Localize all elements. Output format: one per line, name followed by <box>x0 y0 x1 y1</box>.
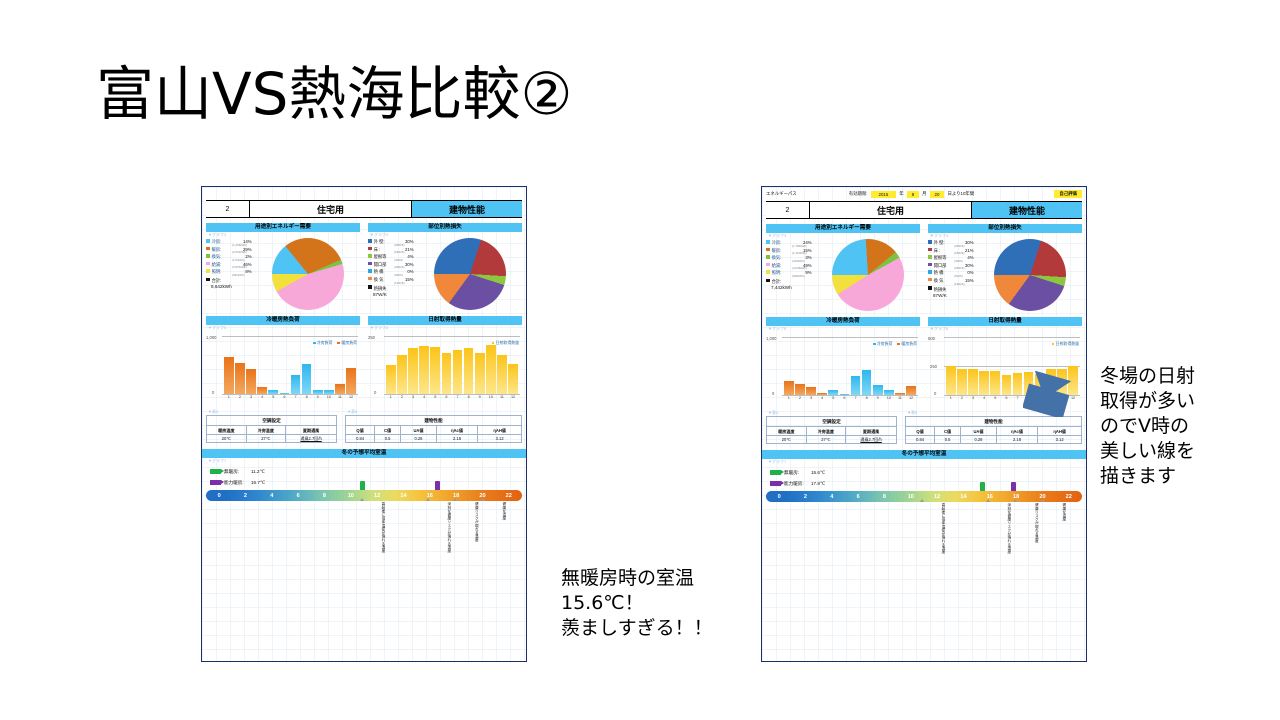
risk-label: 健康リスクが現れる温度 <box>1013 503 1039 543</box>
bar <box>508 364 518 394</box>
x-tick-label: 2 <box>397 395 407 399</box>
table-cell: 通風2.7回/h <box>286 434 337 442</box>
temperature-pin <box>1011 482 1016 491</box>
page-title: 富山VS熱海比較② <box>96 60 796 128</box>
bar <box>784 381 794 396</box>
y-tick-label: 0 <box>374 390 376 395</box>
table-column-header: ηAc値 <box>436 426 477 434</box>
x-tick-label: 4 <box>419 395 429 399</box>
x-tick-label: 11 <box>497 395 507 399</box>
bar <box>979 371 989 395</box>
graph-tag[interactable]: ▼グラフ5 <box>206 325 360 331</box>
table-column-header: C値 <box>935 427 961 435</box>
x-tick-label: 8 <box>464 395 474 399</box>
bar <box>464 348 474 394</box>
table-title: 空調設定 <box>207 416 337 426</box>
legend-swatch <box>766 270 770 274</box>
risk-label: 深刻な健康リスクが現れる温度 <box>986 503 1012 553</box>
legend-swatch <box>766 248 770 252</box>
legend-label: 屋根等 <box>374 254 394 260</box>
table-column-header: ηAc値 <box>996 427 1037 435</box>
table-column-header: UA値 <box>401 426 437 434</box>
table-column-header: Q値 <box>906 427 935 435</box>
table-column-header: UA値 <box>961 427 997 435</box>
table-title: 空調設定 <box>767 417 897 427</box>
sheet-number: 2 <box>206 201 250 217</box>
section-header: 日射取得熱量 <box>928 317 1082 326</box>
scale-tick-label: 14 <box>390 493 416 499</box>
x-tick-label: 11 <box>895 396 905 400</box>
legend-label: 開口部 <box>934 263 954 269</box>
legend-total-label: 熱損失 <box>374 286 387 292</box>
temperature-pin <box>360 481 365 490</box>
bar <box>906 386 916 395</box>
pie-chart <box>434 238 506 310</box>
x-tick-label: 12 <box>508 395 518 399</box>
table-column-header: ηAH値 <box>478 426 522 434</box>
bar <box>862 370 872 396</box>
x-tick-label: 7 <box>1013 396 1023 400</box>
scale-tick-label: 0 <box>766 494 792 500</box>
legend-swatch <box>206 247 210 251</box>
sheet-title-row: 2 住宅用 建物性能 <box>766 201 1082 219</box>
x-tick-label: 12 <box>346 395 356 399</box>
risk-label: 高齢者に低体温症が現れる温度 <box>360 502 386 552</box>
bar <box>324 390 334 394</box>
section-header: 部位別熱損失 <box>368 223 522 232</box>
table-column-header: 夏期通風 <box>286 426 337 434</box>
bar <box>828 390 838 395</box>
table-cell: 3.12 <box>478 434 522 442</box>
chart-legend: 外 壁:30%(26W/K)床 :21%(18W/K)屋根等4%(4W/K)開口… <box>928 239 976 298</box>
temperature-scale: 0246810121416182022 <box>766 491 1082 502</box>
table-cell: 0.5 <box>375 434 401 442</box>
x-tick-label: 1 <box>386 395 396 399</box>
legend-label: 換気: <box>212 254 232 260</box>
scale-tick-label: 4 <box>819 494 845 500</box>
legend-swatch <box>368 262 372 266</box>
legend-total-value: 8,642kWh <box>211 284 254 289</box>
bar <box>335 384 345 394</box>
legend-swatch <box>368 269 372 273</box>
legend-total-value: 87W/K <box>933 293 976 298</box>
building-performance-panel: ▼表5 建物性能 Q値C値UA値ηAc値ηAH値 0.840.50.282.18… <box>345 409 522 443</box>
energy-demand-panel: 用途別エネルギー需要 ▼グラフ3 冷房:24%(1,786kWh)暖房:15%(… <box>766 224 920 311</box>
expiry-month: 8 <box>907 191 919 198</box>
ac-setting-panel: ▼表4 空調設定 暖房温度冷房温度夏期通風 20℃27℃通風2.7回/h <box>206 409 337 443</box>
legend-item: 無暖房: 11.2℃ <box>210 466 522 477</box>
scale-tick-label: 12 <box>364 493 390 499</box>
legend-value: 11.2℃ <box>251 469 265 475</box>
hvac-load-panel: 冷暖房熱負荷 ▼グラフ5 冷房負荷暖房負荷 1,000 0 1234567891… <box>206 316 360 404</box>
bar <box>817 393 827 396</box>
x-tick-label: 7 <box>291 395 301 399</box>
pie-chart <box>832 239 904 311</box>
legend-label: 給湯: <box>772 263 792 269</box>
y-tick-label: 0 <box>212 390 214 395</box>
bar <box>1002 375 1012 395</box>
bar-chart: 日射取得熱量 ▼グラフ6 日射取得熱量 250 0 12345678910111… <box>368 316 522 404</box>
table-row: 20℃27℃通風2.7回/h <box>207 434 337 442</box>
graph-tag[interactable]: ▼グラフ6 <box>928 326 1082 332</box>
bar <box>486 345 496 394</box>
table-column-header: ηAH値 <box>1038 427 1082 435</box>
x-tick-label: 1 <box>224 395 234 399</box>
legend-swatch <box>766 255 770 259</box>
legend-item: 無暖房: 15.6℃ <box>770 467 1082 478</box>
legend-swatch <box>368 239 372 243</box>
table-column-header: 暖房温度 <box>767 427 807 435</box>
x-tick-label: 4 <box>817 396 827 400</box>
legend-label: 照明: <box>772 270 792 276</box>
table-column-header: Q値 <box>346 426 375 434</box>
table-cell: 27℃ <box>806 435 846 443</box>
legend-label: 暖房: <box>212 247 232 253</box>
y-tick-label: 0 <box>934 391 936 396</box>
y-tick-label: 250 <box>368 335 375 340</box>
sheet-section-tab[interactable]: 建物性能 <box>412 201 522 217</box>
x-tick-label: 3 <box>246 395 256 399</box>
x-tick-label: 3 <box>806 396 816 400</box>
x-tick-label: 2 <box>957 396 967 400</box>
risk-label: 健康な温度 <box>481 502 507 520</box>
legend-label: 換 気 <box>374 277 394 283</box>
table-row: 20℃27℃通風2.7回/h <box>767 435 897 443</box>
legend-swatch <box>766 263 770 267</box>
bar <box>235 363 245 394</box>
scale-tick-label: 2 <box>232 493 258 499</box>
self-evaluation-badge: 自己評価 <box>1054 190 1082 198</box>
legend-swatch <box>766 240 770 244</box>
bar <box>419 346 429 394</box>
scale-tick-label: 6 <box>285 493 311 499</box>
bar <box>946 366 956 396</box>
pie-chart <box>272 238 344 310</box>
table-cell: 2.18 <box>996 435 1037 443</box>
x-tick-label: 7 <box>851 396 861 400</box>
section-header: 冬の予想平均室温 <box>762 450 1086 459</box>
legend-label: 外 壁: <box>934 240 954 246</box>
legend-label: 無暖房: <box>224 469 248 475</box>
sheet-meta-row: エネルギーパス 有効期限: 2015 年 8 月 20 日より10年間 自己評価 <box>762 187 1086 201</box>
x-tick-label: 5 <box>990 396 1000 400</box>
winter-temperature-panel: 冬の予想平均室温 ▼グラフ7 無暖房: 11.2℃ 能力暖房: 16.7℃ 02… <box>202 449 526 562</box>
data-table: 空調設定 暖房温度冷房温度夏期通風 20℃27℃通風2.7回/h <box>206 415 337 443</box>
table-cell: 27℃ <box>246 434 286 442</box>
bar <box>990 371 1000 395</box>
table-cell: 20℃ <box>767 435 807 443</box>
heat-loss-panel: 部位別熱損失 ▼グラフ4 外 壁:30%(26W/K)床 :21%(18W/K)… <box>928 224 1082 311</box>
x-tick-label: 3 <box>408 395 418 399</box>
data-table: 建物性能 Q値C値UA値ηAc値ηAH値 0.840.50.282.183.12 <box>345 415 522 443</box>
table-column-header: 夏期通風 <box>846 427 897 435</box>
sheet-title-row: 2 住宅用 建物性能 <box>206 200 522 218</box>
pin-icon <box>770 481 781 486</box>
data-table: 空調設定 暖房温度冷房温度夏期通風 20℃27℃通風2.7回/h <box>766 416 897 444</box>
table-cell: 2.18 <box>436 434 477 442</box>
table-column-header: 暖房温度 <box>207 426 247 434</box>
sheet-category: 住宅用 <box>250 201 412 217</box>
bar <box>268 390 278 395</box>
x-tick-label: 4 <box>257 395 267 399</box>
bar <box>302 364 312 394</box>
sheet-section-tab[interactable]: 建物性能 <box>972 202 1082 218</box>
y-tick-label: 1,000 <box>206 335 216 340</box>
brand-label: エネルギーパス <box>766 191 797 197</box>
legend-label: 冷房: <box>212 239 232 245</box>
bar <box>884 390 894 396</box>
scale-tick-label: 0 <box>206 493 232 499</box>
section-header: 冷暖房熱負荷 <box>766 317 920 326</box>
legend-label: 無暖房: <box>784 470 808 476</box>
x-tick-label: 5 <box>828 396 838 400</box>
legend-value: 15.6℃ <box>811 470 825 476</box>
bar <box>430 347 440 395</box>
x-tick-label: 1 <box>784 396 794 400</box>
bar <box>475 353 485 395</box>
heat-loss-panel: 部位別熱損失 ▼グラフ4 外 壁:30%(26W/K)床 :21%(18W/K)… <box>368 223 522 310</box>
pin-icon <box>210 480 221 485</box>
scale-tick-label: 14 <box>950 494 976 500</box>
legend-swatch <box>928 270 932 274</box>
bar <box>386 365 396 395</box>
legend-total-label: 熱損失 <box>934 287 947 293</box>
bar <box>224 357 234 394</box>
section-header: 冬の予想平均室温 <box>202 449 526 458</box>
x-tick-label: 10 <box>486 395 496 399</box>
bar <box>313 390 323 395</box>
down-left-arrow-icon <box>1023 371 1079 417</box>
risk-label: 深刻な健康リスクが現れる温度 <box>426 502 452 552</box>
x-tick-label: 4 <box>979 396 989 400</box>
scale-tick-label: 2 <box>792 494 818 500</box>
annotation-left-text: 無暖房時の室温 15.6℃！ 羨ましすぎる！！ <box>561 566 713 641</box>
hvac-load-panel: 冷暖房熱負荷 ▼グラフ5 冷房負荷暖房負荷 1,000 0 1234567891… <box>766 317 920 405</box>
table-cell: 0.84 <box>346 434 375 442</box>
risk-label: 高齢者に低体温症が現れる温度 <box>920 503 946 553</box>
scale-tick-label: 4 <box>259 493 285 499</box>
y-tick-label: 1,000 <box>766 336 776 341</box>
section-header: 部位別熱損失 <box>928 224 1082 233</box>
legend-value: 17.8℃ <box>811 481 825 487</box>
legend-label: 熱 橋 <box>374 269 394 275</box>
expiry-day: 20 <box>930 191 945 198</box>
table-title: 建物性能 <box>906 417 1082 427</box>
solar-gain-panel: 日射取得熱量 ▼グラフ6 日射取得熱量 250 0 12345678910111… <box>368 316 522 404</box>
x-tick-label: 9 <box>475 395 485 399</box>
x-tick-label: 6 <box>1002 396 1012 400</box>
legend-swatch <box>206 239 210 243</box>
legend-label: 照明: <box>212 269 232 275</box>
annotation-right-text: 冬場の日射 取得が多い のでV時の 美しい線を 描きます <box>1100 364 1195 489</box>
bar <box>806 387 816 396</box>
legend-label: 能力暖房: <box>784 481 808 487</box>
expiry-suffix: 日より10年間 <box>947 191 974 197</box>
table-cell: 0.28 <box>961 435 997 443</box>
legend-swatch <box>206 262 210 266</box>
expiry-label: 有効期限: <box>849 191 868 197</box>
table-cell: 0.84 <box>906 435 935 443</box>
scale-tick-label: 22 <box>1056 494 1082 500</box>
scale-tick-label: 8 <box>871 494 897 500</box>
legend-label: 暖房: <box>772 248 792 254</box>
table-row: 0.840.50.282.183.12 <box>906 435 1082 443</box>
legend-label: 給湯: <box>212 262 232 268</box>
legend-swatch <box>928 263 932 267</box>
table-column-header: 冷房温度 <box>806 427 846 435</box>
bar <box>397 355 407 394</box>
y-tick-label: 0 <box>772 391 774 396</box>
table-column-header: C値 <box>375 426 401 434</box>
ac-setting-panel: ▼表4 空調設定 暖房温度冷房温度夏期通風 20℃27℃通風2.7回/h <box>766 410 897 444</box>
x-tick-label: 5 <box>430 395 440 399</box>
bar <box>442 353 452 394</box>
bar <box>873 385 883 395</box>
y-tick-label: 500 <box>928 336 935 341</box>
expiry-year: 2015 <box>871 191 897 198</box>
risk-label: 健康な温度 <box>1041 503 1067 521</box>
legend-swatch <box>368 254 372 258</box>
temperature-scale: 0246810121416182022 <box>206 490 522 501</box>
x-tick-label: 12 <box>906 396 916 400</box>
temperature-pin <box>435 481 440 490</box>
x-tick-label: 2 <box>235 395 245 399</box>
y-tick-label: 250 <box>930 364 937 369</box>
x-tick-label: 9 <box>873 396 883 400</box>
winter-temperature-panel: 冬の予想平均室温 ▼グラフ7 無暖房: 15.6℃ 能力暖房: 17.8℃ 02… <box>762 450 1086 563</box>
table-cell: 通風2.7回/h <box>846 435 897 443</box>
bar <box>346 368 356 395</box>
scale-tick-label: 6 <box>845 494 871 500</box>
table-row: 0.840.50.282.183.12 <box>346 434 522 442</box>
section-header: 用途別エネルギー需要 <box>766 224 920 233</box>
x-tick-label: 8 <box>862 396 872 400</box>
table-cell: 3.12 <box>1038 435 1082 443</box>
table-cell: 0.28 <box>401 434 437 442</box>
legend-value: 16.7℃ <box>251 480 265 486</box>
legend-swatch <box>928 278 932 282</box>
bar <box>453 350 463 394</box>
bar-chart: 冷暖房熱負荷 ▼グラフ5 冷房負荷暖房負荷 1,000 0 1234567891… <box>206 316 360 404</box>
x-tick-label: 11 <box>335 395 345 399</box>
x-tick-label: 10 <box>324 395 334 399</box>
legend-label: 外 壁: <box>374 239 394 245</box>
scale-tick-label: 8 <box>311 493 337 499</box>
chart-legend: 冷房:14%(1,209kWh)暖房:29%(2,501kWh)換気:2%(17… <box>206 238 254 289</box>
legend-item: 能力暖房: 17.8℃ <box>770 478 1082 489</box>
bar <box>957 369 967 395</box>
legend-label: 床 : <box>934 248 954 254</box>
legend-label: 熱 橋 <box>934 270 954 276</box>
sheet-category: 住宅用 <box>810 202 972 218</box>
legend-label: 換 気 <box>934 278 954 284</box>
x-tick-label: 10 <box>884 396 894 400</box>
chart-legend: 冷房:24%(1,786kWh)暖房:15%(1,116kWh)換気:3%(22… <box>766 239 814 290</box>
x-tick-label: 6 <box>280 395 290 399</box>
bar <box>1013 373 1023 395</box>
section-header: 用途別エネルギー需要 <box>206 223 360 232</box>
bar <box>408 348 418 394</box>
x-tick-label: 9 <box>313 395 323 399</box>
bar <box>851 376 861 395</box>
bar <box>497 355 507 394</box>
table-column-header: 冷房温度 <box>246 426 286 434</box>
graph-tag[interactable]: ▼グラフ5 <box>766 326 920 332</box>
scale-tick-label: 12 <box>924 494 950 500</box>
bar <box>246 369 256 394</box>
x-tick-label: 3 <box>968 396 978 400</box>
x-tick-label: 6 <box>442 395 452 399</box>
legend-swatch <box>368 247 372 251</box>
legend-label: 開口部 <box>374 262 394 268</box>
legend-label: 屋根等 <box>934 255 954 261</box>
energy-pass-sheet-toyama[interactable]: 2 住宅用 建物性能 用途別エネルギー需要 ▼グラフ3 冷房:14%(1,209… <box>201 186 527 662</box>
legend-label: 能力暖房: <box>224 480 248 486</box>
bar-chart: 冷暖房熱負荷 ▼グラフ5 冷房負荷暖房負荷 1,000 0 1234567891… <box>766 317 920 405</box>
pie-chart <box>994 239 1066 311</box>
bar <box>291 375 301 394</box>
legend-swatch <box>928 255 932 259</box>
energy-demand-panel: 用途別エネルギー需要 ▼グラフ3 冷房:14%(1,209kWh)暖房:29%(… <box>206 223 360 310</box>
x-tick-label: 5 <box>268 395 278 399</box>
legend-label: 換気: <box>772 255 792 261</box>
temperature-pin <box>980 482 985 491</box>
table-cell: 20℃ <box>207 434 247 442</box>
bar <box>795 384 805 396</box>
risk-label: 健康リスクが現れる温度 <box>453 502 479 542</box>
legend-swatch <box>206 254 210 258</box>
x-tick-label: 1 <box>946 396 956 400</box>
legend-swatch <box>928 248 932 252</box>
legend-swatch <box>206 269 210 273</box>
table-cell: 0.5 <box>935 435 961 443</box>
x-tick-label: 6 <box>840 396 850 400</box>
x-tick-label: 7 <box>453 395 463 399</box>
legend-total-value: 87W/K <box>373 292 416 297</box>
legend-swatch <box>928 240 932 244</box>
graph-tag[interactable]: ▼グラフ6 <box>368 325 522 331</box>
bar <box>257 387 267 394</box>
legend-item: 能力暖房: 16.7℃ <box>210 477 522 488</box>
table-title: 建物性能 <box>346 416 522 426</box>
legend-label: 冷房: <box>772 240 792 246</box>
pin-icon <box>770 470 781 475</box>
data-table: 建物性能 Q値C値UA値ηAc値ηAH値 0.840.50.282.183.12 <box>905 416 1082 444</box>
x-tick-label: 2 <box>795 396 805 400</box>
legend-total-value: 7,442kWh <box>771 285 814 290</box>
legend-swatch <box>368 277 372 281</box>
bar <box>968 369 978 396</box>
chart-legend: 外 壁:30%(26W/K)床 :21%(18W/K)屋根等4%(4W/K)開口… <box>368 238 416 297</box>
section-header: 日射取得熱量 <box>368 316 522 325</box>
scale-tick-label: 22 <box>496 493 522 499</box>
pin-icon <box>210 469 221 474</box>
section-header: 冷暖房熱負荷 <box>206 316 360 325</box>
energy-pass-sheet-atami[interactable]: エネルギーパス 有効期限: 2015 年 8 月 20 日より10年間 自己評価… <box>761 186 1087 662</box>
legend-label: 床 : <box>374 247 394 253</box>
sheet-number: 2 <box>766 202 810 218</box>
x-tick-label: 8 <box>302 395 312 399</box>
